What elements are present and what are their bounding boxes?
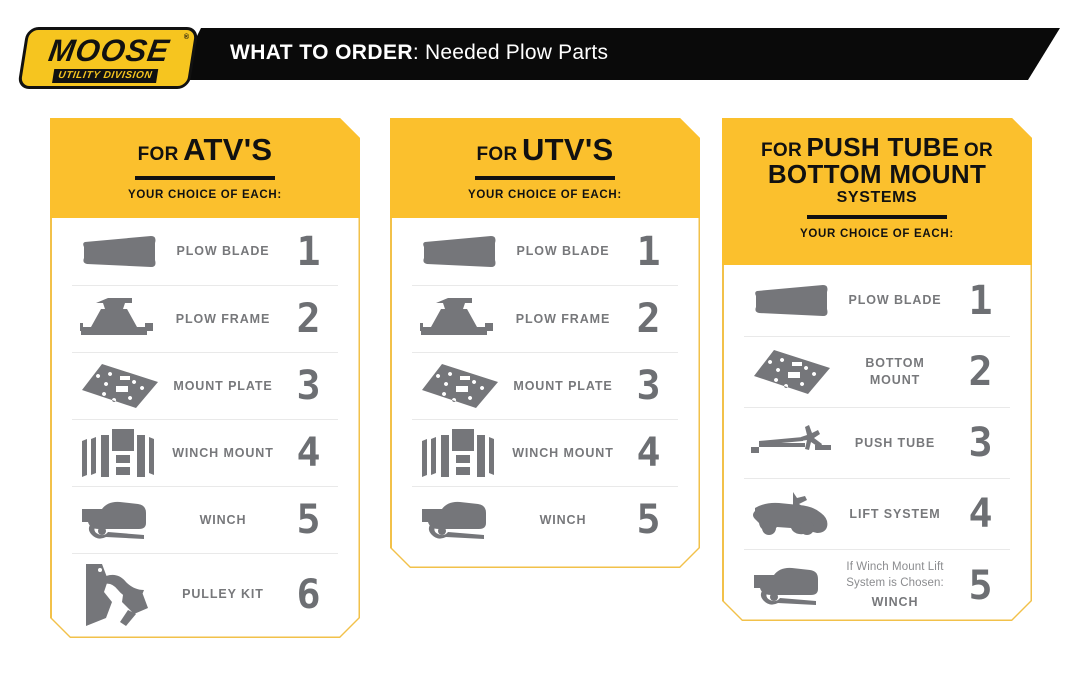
card-title-main: PUSH TUBE	[806, 132, 959, 162]
list-item[interactable]: PLOW FRAME 2	[72, 285, 338, 352]
list-item-label: MOUNT PLATE	[508, 378, 618, 395]
list-item[interactable]: PULLEY KIT 6	[72, 553, 338, 635]
list-item[interactable]: BOTTOM MOUNT 2	[744, 336, 1010, 407]
card-header-push-tube: FOR PUSH TUBE OR BOTTOM MOUNT SYSTEMS YO…	[722, 118, 1032, 265]
card-utv: FOR UTV'S YOUR CHOICE OF EACH: PLOW BLAD…	[390, 118, 700, 568]
winch-mount-icon	[412, 427, 508, 479]
mount-plate-icon	[412, 362, 508, 410]
card-choice-label: YOUR CHOICE OF EACH:	[390, 189, 700, 211]
pulley-kit-icon	[72, 562, 168, 628]
card-body-atv: PLOW BLADE 1 PLOW FRAME 2 MOUNT PLATE 3	[50, 218, 360, 635]
list-item-label: PLOW FRAME	[168, 311, 278, 328]
list-item-number: 4	[618, 433, 678, 473]
list-item[interactable]: WINCH MOUNT 4	[412, 419, 678, 486]
card-choice-label: YOUR CHOICE OF EACH:	[722, 228, 1032, 250]
list-item[interactable]: WINCH 5	[412, 486, 678, 553]
list-item-label: PLOW BLADE	[840, 292, 950, 309]
card-body-push-tube: PLOW BLADE 1 BOTTOM MOUNT 2 PUSH TUBE 3	[722, 265, 1032, 621]
list-item[interactable]: LIFT SYSTEM 4	[744, 478, 1010, 549]
list-item-number: 5	[618, 500, 678, 540]
card-choice-label: YOUR CHOICE OF EACH:	[50, 189, 360, 211]
list-item[interactable]: MOUNT PLATE 3	[412, 352, 678, 419]
list-item[interactable]: PLOW BLADE 1	[72, 218, 338, 285]
card-title-line2: BOTTOM MOUNT	[722, 161, 1032, 188]
list-item-number: 2	[278, 299, 338, 339]
winch-icon	[744, 565, 840, 607]
list-item[interactable]: WINCH 5	[72, 486, 338, 553]
list-item-label: PLOW BLADE	[508, 243, 618, 260]
list-item-number: 1	[618, 232, 678, 272]
plow-frame-icon	[72, 296, 168, 342]
card-push-tube-bottom-mount: FOR PUSH TUBE OR BOTTOM MOUNT SYSTEMS YO…	[722, 118, 1032, 621]
list-item-label: WINCH	[168, 512, 278, 529]
list-item[interactable]: PLOW FRAME 2	[412, 285, 678, 352]
title-rule	[135, 176, 275, 180]
list-item-label: PUSH TUBE	[840, 435, 950, 452]
card-title: FOR ATV'S	[50, 118, 360, 167]
card-title-main: UTV'S	[522, 132, 614, 167]
list-item-label: LIFT SYSTEM	[840, 506, 950, 523]
card-title-for: FOR	[138, 144, 179, 165]
mount-plate-icon	[72, 362, 168, 410]
list-item[interactable]: WINCH MOUNT 4	[72, 419, 338, 486]
cards-container: FOR ATV'S YOUR CHOICE OF EACH: PLOW BLAD…	[0, 0, 1080, 691]
list-item[interactable]: If Winch Mount Lift System is Chosen: WI…	[744, 549, 1010, 621]
list-item-label: PLOW BLADE	[168, 243, 278, 260]
title-rule	[475, 176, 615, 180]
winch-icon	[412, 499, 508, 541]
card-body-utv: PLOW BLADE 1 PLOW FRAME 2 MOUNT PLATE 3	[390, 218, 700, 553]
list-item-label: WINCH MOUNT	[168, 445, 278, 462]
card-header-utv: FOR UTV'S YOUR CHOICE OF EACH:	[390, 118, 700, 218]
list-item-number: 1	[278, 232, 338, 272]
list-item[interactable]: PLOW BLADE 1	[744, 265, 1010, 336]
card-title: FOR UTV'S	[390, 118, 700, 167]
list-item[interactable]: MOUNT PLATE 3	[72, 352, 338, 419]
title-rule	[807, 215, 947, 219]
list-item-note: If Winch Mount Lift System is Chosen:	[840, 560, 950, 591]
card-title: FOR PUSH TUBE OR BOTTOM MOUNT SYSTEMS	[722, 118, 1032, 206]
list-item[interactable]: PLOW BLADE 1	[412, 218, 678, 285]
list-item-number: 3	[618, 366, 678, 406]
plow-frame-icon	[412, 296, 508, 342]
list-item-label: PLOW FRAME	[508, 311, 618, 328]
bottom-mount-icon	[744, 348, 840, 396]
list-item-number: 4	[950, 494, 1010, 534]
list-item-label: BOTTOM MOUNT	[840, 355, 950, 389]
list-item-number: 2	[950, 352, 1010, 392]
list-item-number: 1	[950, 281, 1010, 321]
list-item-label: If Winch Mount Lift System is Chosen: WI…	[840, 560, 950, 611]
list-item-label: WINCH	[508, 512, 618, 529]
card-atv: FOR ATV'S YOUR CHOICE OF EACH: PLOW BLAD…	[50, 118, 360, 638]
card-header-atv: FOR ATV'S YOUR CHOICE OF EACH:	[50, 118, 360, 218]
card-title-or: OR	[964, 140, 993, 161]
card-title-line3: SYSTEMS	[722, 190, 1032, 207]
push-tube-icon	[744, 423, 840, 463]
list-item-number: 5	[950, 566, 1010, 606]
card-title-main: ATV'S	[183, 132, 272, 167]
lift-system-icon	[744, 490, 840, 538]
list-item-number: 6	[278, 575, 338, 615]
card-title-for: FOR	[476, 144, 517, 165]
list-item-number: 4	[278, 433, 338, 473]
winch-icon	[72, 499, 168, 541]
list-item-number: 2	[618, 299, 678, 339]
list-item[interactable]: PUSH TUBE 3	[744, 407, 1010, 478]
list-item-number: 5	[278, 500, 338, 540]
list-item-number: 3	[950, 423, 1010, 463]
plow-blade-icon	[744, 283, 840, 319]
plow-blade-icon	[72, 234, 168, 270]
winch-mount-icon	[72, 427, 168, 479]
card-title-for: FOR	[761, 140, 802, 161]
list-item-label: WINCH MOUNT	[508, 445, 618, 462]
list-item-label: MOUNT PLATE	[168, 378, 278, 395]
list-item-number: 3	[278, 366, 338, 406]
list-item-label-text: WINCH	[872, 595, 919, 609]
plow-blade-icon	[412, 234, 508, 270]
list-item-label: PULLEY KIT	[168, 586, 278, 603]
